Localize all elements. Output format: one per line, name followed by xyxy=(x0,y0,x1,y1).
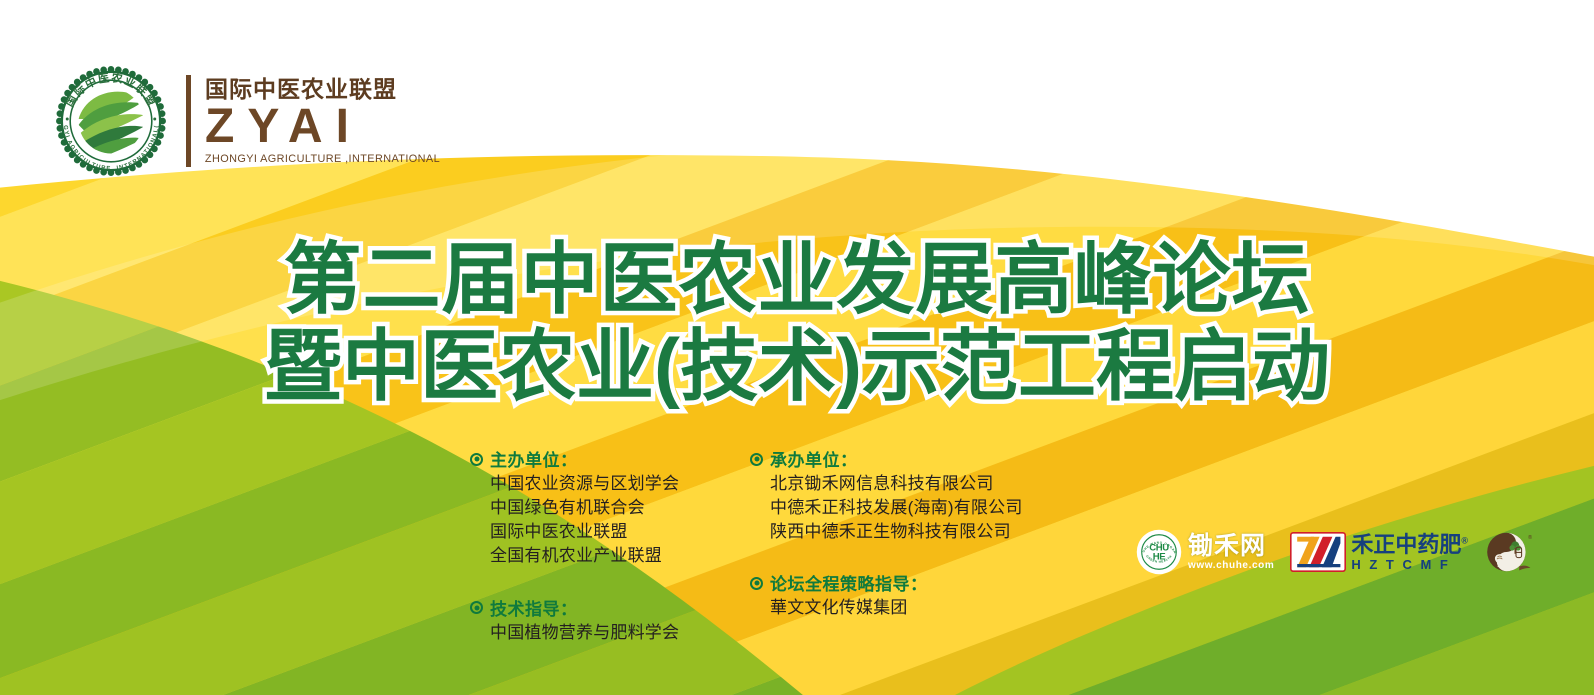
list-item: 陕西中德禾正生物科技有限公司 xyxy=(770,520,1050,544)
bullet-icon xyxy=(750,453,763,466)
organizer-column-right: 承办单位： 北京锄禾网信息科技有限公司 中德禾正科技发展(海南)有限公司 陕西中… xyxy=(750,446,1050,649)
sponsor-hztcmf: 禾正中药肥® H Z T C M F xyxy=(1290,532,1468,572)
organizer-column-left: 主办单位： 中国农业资源与区划学会 中国绿色有机联合会 国际中医农业联盟 全国有… xyxy=(470,446,702,649)
info-group-header: 主办单位： xyxy=(470,446,702,471)
info-group-header: 论坛全程策略指导： xyxy=(750,570,1050,595)
trademark-symbol: ® xyxy=(1528,534,1532,541)
sponsor-chuhe: CHUHE WANG ORGANIC GREEN HEALTH CHU HE 锄… xyxy=(1136,529,1274,575)
info-item-list: 北京锄禾网信息科技有限公司 中德禾正科技发展(海南)有限公司 陕西中德禾正生物科… xyxy=(750,472,1050,544)
sponsor-logo-strip: CHUHE WANG ORGANIC GREEN HEALTH CHU HE 锄… xyxy=(1136,528,1532,576)
zyai-circular-emblem: 国际中医农业联盟 ZHONGYI AGRICULTURE .INTERNATIO… xyxy=(52,62,170,180)
list-item: 中国植物营养与肥料学会 xyxy=(490,621,702,645)
chuhe-name-cn: 锄禾网 xyxy=(1188,534,1266,559)
info-group-header: 技术指导： xyxy=(470,595,702,620)
info-item-list: 中国农业资源与区划学会 中国绿色有机联合会 国际中医农业联盟 全国有机农业产业联… xyxy=(470,472,702,569)
list-item: 全国有机农业产业联盟 xyxy=(490,544,702,568)
sponsor-tcm-circle: ® xyxy=(1484,528,1532,576)
logo-name-cn: 国际中医农业联盟 xyxy=(195,77,397,102)
info-group-coorganizer: 承办单位： 北京锄禾网信息科技有限公司 中德禾正科技发展(海南)有限公司 陕西中… xyxy=(750,446,1050,544)
logo-acronym: ZYAI xyxy=(195,103,362,151)
chuhe-url: www.chuhe.com xyxy=(1188,561,1274,571)
info-group-title: 技术指导： xyxy=(490,595,578,620)
list-item: 中国农业资源与区划学会 xyxy=(490,472,702,496)
bullet-icon xyxy=(470,453,483,466)
list-item: 華文文化传媒集团 xyxy=(770,596,1050,620)
trademark-symbol: ® xyxy=(1461,535,1468,545)
list-item: 北京锄禾网信息科技有限公司 xyxy=(770,472,1050,496)
info-item-list: 華文文化传媒集团 xyxy=(750,596,1050,620)
info-group-header: 承办单位： xyxy=(750,446,1050,471)
chuhe-circle-logo: CHUHE WANG ORGANIC GREEN HEALTH CHU HE xyxy=(1136,529,1182,575)
list-item: 中国绿色有机联合会 xyxy=(490,496,702,520)
bullet-icon xyxy=(470,601,483,614)
hztcmf-name-cn-text: 禾正中药肥 xyxy=(1351,532,1461,557)
hztcmf-wordmark: 禾正中药肥® H Z T C M F xyxy=(1351,534,1468,571)
info-group-tech-guidance: 技术指导： 中国植物营养与肥料学会 xyxy=(470,595,702,645)
hztcmf-name-cn: 禾正中药肥® xyxy=(1351,534,1468,556)
tcm-tree-yinyang-logo: ® xyxy=(1484,528,1532,576)
info-group-title: 论坛全程策略指导： xyxy=(770,570,928,595)
info-item-list: 中国植物营养与肥料学会 xyxy=(470,621,702,645)
info-group-title: 主办单位： xyxy=(490,446,578,471)
info-group-title: 承办单位： xyxy=(770,446,858,471)
svg-text:HE: HE xyxy=(1153,552,1167,563)
list-item: 国际中医农业联盟 xyxy=(490,520,702,544)
info-group-strategy-guidance: 论坛全程策略指导： 華文文化传媒集团 xyxy=(750,570,1050,620)
bullet-icon xyxy=(750,577,763,590)
hztcmf-stripe-logo xyxy=(1290,532,1346,572)
logo-name-en: ZHONGYI AGRICULTURE ,INTERNATIONAL xyxy=(195,153,440,165)
info-group-host: 主办单位： 中国农业资源与区划学会 中国绿色有机联合会 国际中医农业联盟 全国有… xyxy=(470,446,702,569)
conference-banner: 国际中医农业联盟 ZHONGYI AGRICULTURE .INTERNATIO… xyxy=(0,0,1594,695)
organizer-info: 主办单位： 中国农业资源与区划学会 中国绿色有机联合会 国际中医农业联盟 全国有… xyxy=(470,446,1050,649)
hztcmf-name-en: H Z T C M F xyxy=(1351,558,1450,571)
zyai-logo-lockup: 国际中医农业联盟 ZHONGYI AGRICULTURE .INTERNATIO… xyxy=(52,62,443,180)
chuhe-wordmark: 锄禾网 www.chuhe.com xyxy=(1188,534,1274,571)
list-item: 中德禾正科技发展(海南)有限公司 xyxy=(770,496,1050,520)
zyai-wordmark: 国际中医农业联盟 ZYAI ZHONGYI AGRICULTURE ,INTER… xyxy=(186,75,443,167)
